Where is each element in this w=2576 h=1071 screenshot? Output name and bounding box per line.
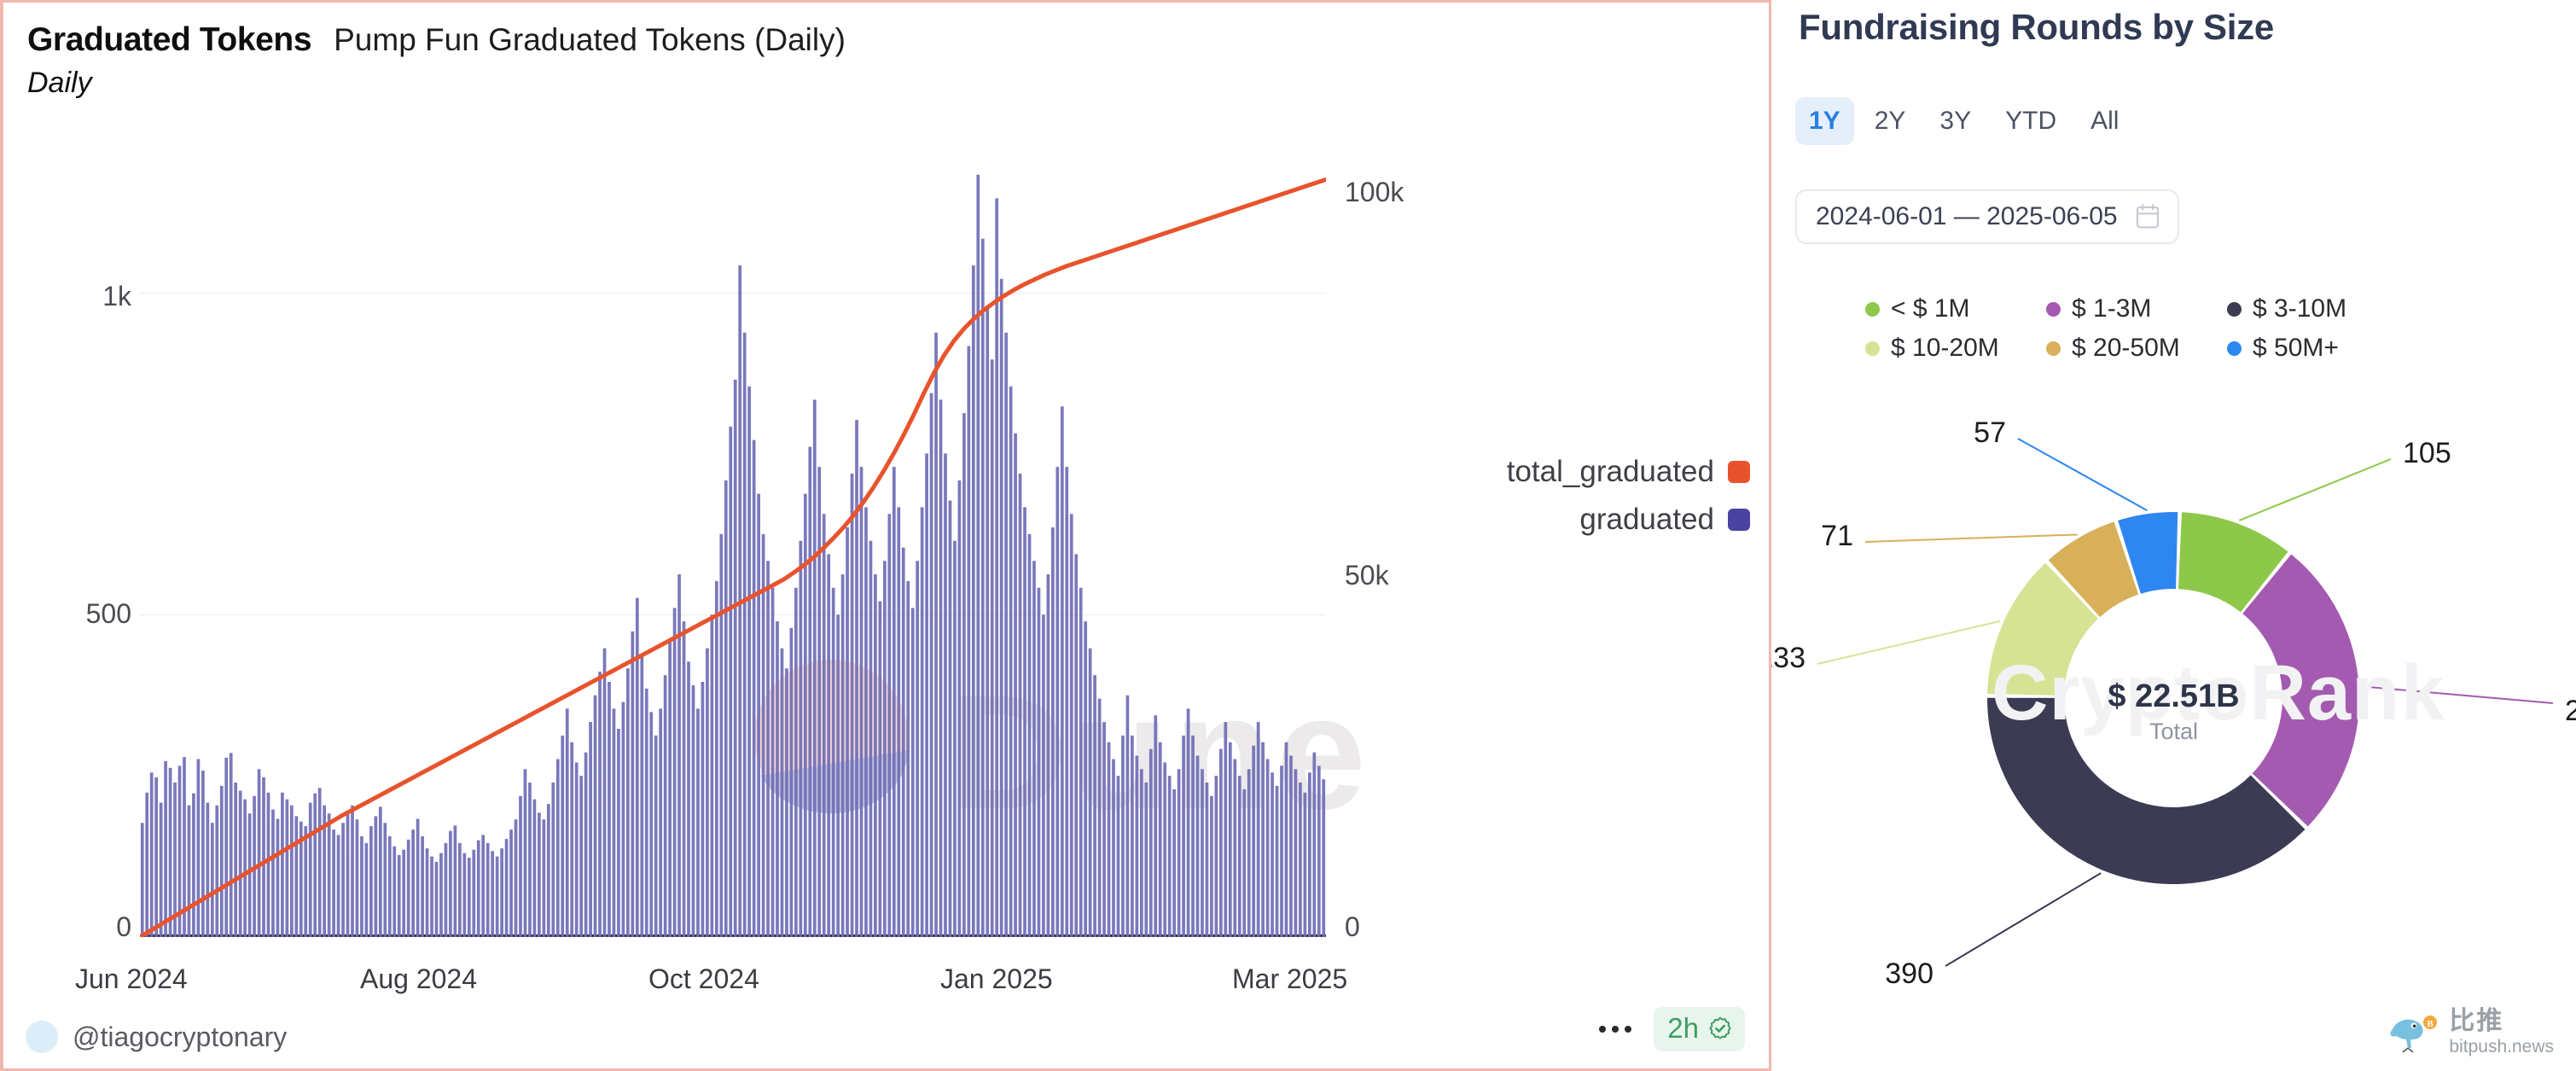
bitpush-attribution: B 比推 bitpush.news [2387, 1009, 2554, 1056]
legend-item-10-20m[interactable]: $ 10-20M [1865, 334, 2005, 363]
donut-data-label: 390 [1885, 957, 1933, 990]
legend-label-1-3m: $ 1-3M [2072, 294, 2151, 323]
donut-leader-line [2018, 439, 2147, 510]
legend-dot-lt-1m [1865, 302, 1880, 317]
author-block[interactable]: @tiagocryptonary [26, 1021, 287, 1053]
legend-dot-10-20m [1865, 341, 1880, 356]
legend-item-20-50m[interactable]: $ 20-50M [2046, 334, 2186, 363]
bitpush-cn-label: 比推 [2449, 1009, 2554, 1034]
donut-data-label: 105 [2403, 437, 2451, 469]
line-series-total-graduated [140, 179, 1326, 937]
y2-axis-tick-0: 0 [1345, 911, 1360, 943]
chart-legend: total_graduated graduated [1507, 455, 1750, 537]
legend-label-lt-1m: < $ 1M [1891, 294, 1970, 323]
range-tab-all[interactable]: All [2077, 97, 2132, 145]
donut-leader-line [1865, 534, 2078, 542]
donut-leader-line [1945, 873, 2101, 966]
range-tab-2y[interactable]: 2Y [1861, 97, 1920, 145]
chart-subtitle: Pump Fun Graduated Tokens (Daily) [334, 22, 846, 58]
range-tab-ytd[interactable]: YTD [1992, 97, 2070, 145]
legend-swatch-total-graduated [1728, 461, 1750, 483]
bar-series-graduated [141, 175, 1325, 937]
legend-dot-50m-plus [2227, 341, 2242, 356]
graduated-tokens-plot [140, 165, 1326, 937]
bird-coin-logo: B [2387, 1012, 2440, 1053]
card-footer-actions: 2h [1599, 1007, 1745, 1051]
range-tab-3y[interactable]: 3Y [1926, 97, 1985, 145]
freshness-badge[interactable]: 2h [1654, 1007, 1745, 1051]
interval-label: Daily [27, 67, 846, 100]
x-axis-tick-jun2024: Jun 2024 [75, 963, 188, 995]
legend-label-total-graduated: total_graduated [1507, 455, 1714, 489]
donut-chart: CryptoRank 1052733901337157 $ 22.51B Tot… [1771, 401, 2576, 998]
donut-leader-line [2239, 459, 2391, 521]
donut-total-label: Total [1771, 719, 2576, 745]
bitpush-en-label: bitpush.news [2449, 1038, 2554, 1056]
dashboard-root: Graduated Tokens Pump Fun Graduated Toke… [0, 0, 2576, 1071]
donut-data-label: 57 [1974, 416, 2006, 449]
date-range-value: 2024-06-01 — 2025-06-05 [1816, 202, 2118, 231]
author-handle: @tiagocryptonary [73, 1022, 287, 1053]
donut-leader-line [1817, 621, 2000, 664]
legend-label-3-10m: $ 3-10M [2253, 294, 2346, 323]
legend-label-10-20m: $ 10-20M [1891, 334, 1999, 363]
legend-item-total-graduated[interactable]: total_graduated [1507, 455, 1750, 489]
legend-item-50m-plus[interactable]: $ 50M+ [2227, 334, 2346, 363]
legend-item-graduated[interactable]: graduated [1579, 503, 1750, 537]
fundraising-panel: Fundraising Rounds by Size 1Y 2Y 3Y YTD … [1771, 0, 2576, 1071]
legend-item-1-3m[interactable]: $ 1-3M [2046, 294, 2186, 323]
x-axis-tick-oct2024: Oct 2024 [648, 963, 759, 995]
legend-label-graduated: graduated [1579, 503, 1714, 537]
freshness-label: 2h [1667, 1012, 1699, 1045]
donut-legend: < $ 1M $ 1-3M $ 3-10M $ 10-20M $ 20-50M … [1865, 294, 2346, 363]
graduated-tokens-card: Graduated Tokens Pump Fun Graduated Toke… [0, 0, 1771, 1071]
legend-label-20-50m: $ 20-50M [2072, 334, 2180, 363]
donut-total-value: $ 22.51B [1771, 678, 2576, 715]
plot-area: Dune [140, 165, 1326, 937]
legend-dot-20-50m [2046, 341, 2061, 356]
legend-label-50m-plus: $ 50M+ [2253, 334, 2339, 363]
legend-dot-1-3m [2046, 302, 2061, 317]
card-header: Graduated Tokens Pump Fun Graduated Toke… [27, 21, 846, 100]
svg-text:B: B [2428, 1019, 2434, 1029]
ellipsis-icon[interactable] [1599, 1026, 1631, 1033]
y2-axis-tick-100k: 100k [1345, 177, 1404, 208]
y-axis-tick-0: 0 [38, 911, 131, 943]
x-axis-tick-jan2025: Jan 2025 [940, 963, 1053, 995]
donut-data-label: 71 [1821, 520, 1853, 552]
y-axis-tick-1k: 1k [38, 281, 131, 312]
range-tab-1y[interactable]: 1Y [1795, 97, 1854, 145]
legend-dot-3-10m [2227, 302, 2242, 317]
y2-axis-tick-50k: 50k [1345, 560, 1389, 591]
legend-item-lt-1m[interactable]: < $ 1M [1865, 294, 2005, 323]
y-axis-tick-500: 500 [38, 598, 131, 630]
donut-data-label: 133 [1771, 642, 1806, 674]
page-title: Graduated Tokens [27, 21, 311, 59]
avatar [26, 1021, 58, 1053]
date-range-picker[interactable]: 2024-06-01 — 2025-06-05 [1795, 189, 2179, 244]
legend-swatch-graduated [1728, 509, 1750, 531]
x-axis-tick-aug2024: Aug 2024 [360, 963, 477, 995]
verified-check-icon [1707, 1016, 1733, 1041]
legend-item-3-10m[interactable]: $ 3-10M [2227, 294, 2346, 323]
calendar-icon [2135, 203, 2160, 230]
fundraising-title: Fundraising Rounds by Size [1799, 7, 2274, 48]
range-tabs: 1Y 2Y 3Y YTD All [1795, 97, 2132, 145]
x-axis-tick-mar2025: Mar 2025 [1232, 963, 1347, 995]
